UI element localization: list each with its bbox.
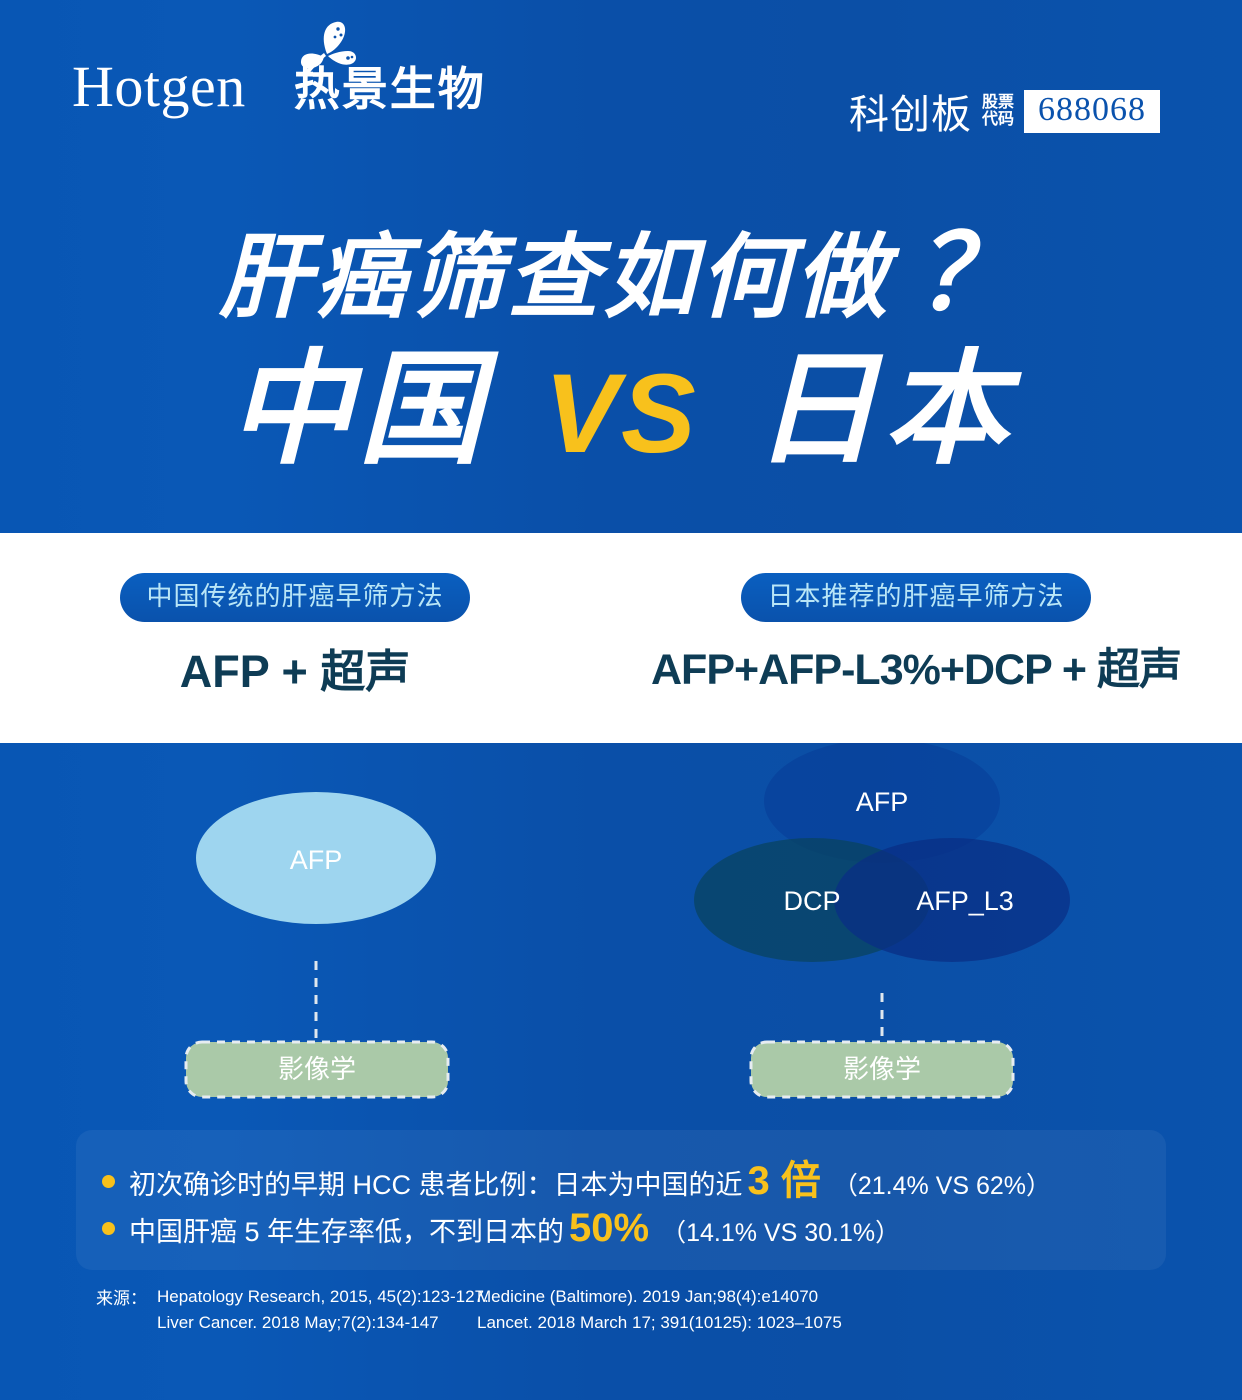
stock-code-value: 688068 [1024,90,1160,133]
fact-item-1: 初次确诊时的早期 HCC 患者比例：日本为中国的近 3 倍 （21.4% VS … [102,1148,1051,1206]
bullet-dot-icon [102,1222,115,1235]
sources-column-1: Hepatology Research, 2015, 45(2):123-127… [157,1284,477,1337]
stock-code-badge: 科创板 股票 代码 688068 [849,82,1160,140]
venn-label-afp: AFP [856,787,909,817]
country-right-label: 日本 [754,341,1014,479]
venn-group [694,743,1070,962]
fact-2-text: 中国肝癌 5 年生存率低，不到日本的 [129,1210,564,1249]
versus-label: VS [544,351,697,476]
page-title-question: ？ [915,216,1023,332]
method-column-japan: 日本推荐的肝癌早筛方法 AFP+AFP-L3%+DCP + 超声 [590,533,1242,743]
venn-label-afp-l3: AFP_L3 [916,886,1014,916]
sources-label: 来源： [96,1284,147,1337]
imaging-label-right: 影像学 [843,1054,921,1084]
stock-caption-line2: 代码 [982,111,1014,128]
sources-block: 来源： Hepatology Research, 2015, 45(2):123… [96,1284,1156,1337]
source-ref: Medicine (Baltimore). 2019 Jan;98(4):e14… [477,1284,842,1310]
header-section: Hotgen 热景生物 科创板 股票 代码 [0,0,1242,533]
brand-logo: Hotgen 热景生物 [72,58,486,116]
page-title-text: 肝癌筛查如何做 [219,227,891,329]
facts-panel: 初次确诊时的早期 HCC 患者比例：日本为中国的近 3 倍 （21.4% VS … [76,1130,1166,1270]
poster-root: Hotgen 热景生物 科创板 股票 代码 [0,0,1242,1400]
method-pill-japan: 日本推荐的肝癌早筛方法 [741,573,1090,622]
country-left-label: 中国 [228,341,488,479]
stock-caption-line1: 股票 [982,94,1014,111]
source-ref: Lancet. 2018 March 17; 391(10125): 1023–… [477,1310,842,1336]
methods-band: 中国传统的肝癌早筛方法 AFP + 超声 日本推荐的肝癌早筛方法 AFP+AFP… [0,533,1242,743]
source-ref: Liver Cancer. 2018 May;7(2):134-147 [157,1310,477,1336]
imaging-label-left: 影像学 [278,1054,356,1084]
stock-board-label: 科创板 [849,82,972,140]
source-ref: Hepatology Research, 2015, 45(2):123-127… [157,1284,477,1310]
venn-label-dcp: DCP [783,886,840,916]
page-title: 肝癌筛查如何做？ [0,222,1242,326]
brand-logo-text: Hotgen [72,58,246,116]
method-pill-china: 中国传统的肝癌早筛方法 [120,573,469,622]
stock-code-caption: 股票 代码 [982,94,1014,129]
marker-diagram: AFP 影像学 AFP DCP AFP_L3 影像学 [0,743,1242,1123]
fact-1-text: 初次确诊时的早期 HCC 患者比例：日本为中国的近 [129,1163,743,1202]
bullet-dot-icon [102,1175,115,1188]
method-formula-china: AFP + 超声 [0,635,590,700]
ellipse-label-afp-left: AFP [290,845,343,875]
fact-2-parenthetical: （14.1% VS 30.1%） [661,1213,900,1249]
versus-title: 中国VS日本 [0,348,1242,472]
method-column-china: 中国传统的肝癌早筛方法 AFP + 超声 [0,533,590,743]
sources-column-2: Medicine (Baltimore). 2019 Jan;98(4):e14… [477,1284,842,1337]
fact-1-parenthetical: （21.4% VS 62%） [833,1166,1051,1202]
fact-1-highlight: 3 倍 [748,1148,821,1206]
fact-item-2: 中国肝癌 5 年生存率低，不到日本的 50% （14.1% VS 30.1%） [102,1206,900,1251]
method-formula-japan: AFP+AFP-L3%+DCP + 超声 [590,635,1242,697]
butterfly-icon [294,20,364,82]
fact-2-highlight: 50% [569,1206,649,1251]
